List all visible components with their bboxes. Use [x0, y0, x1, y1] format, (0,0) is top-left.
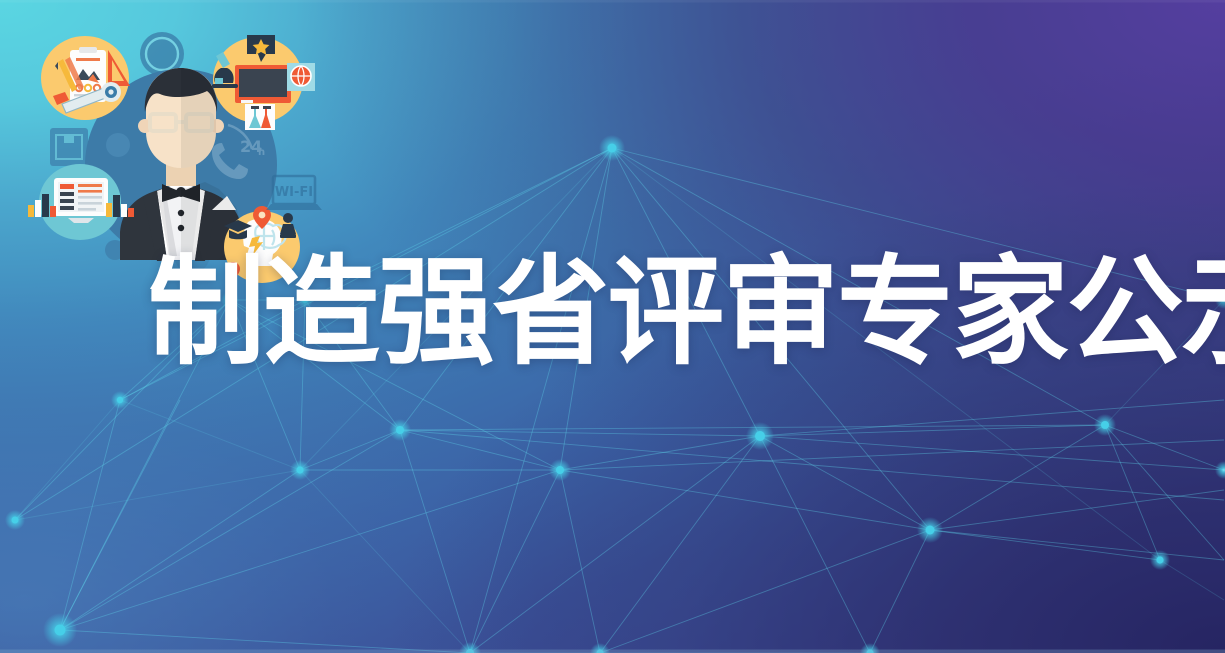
- banner-image: 24 h: [0, 0, 1225, 653]
- edge-highlight-overlay: [0, 0, 1225, 653]
